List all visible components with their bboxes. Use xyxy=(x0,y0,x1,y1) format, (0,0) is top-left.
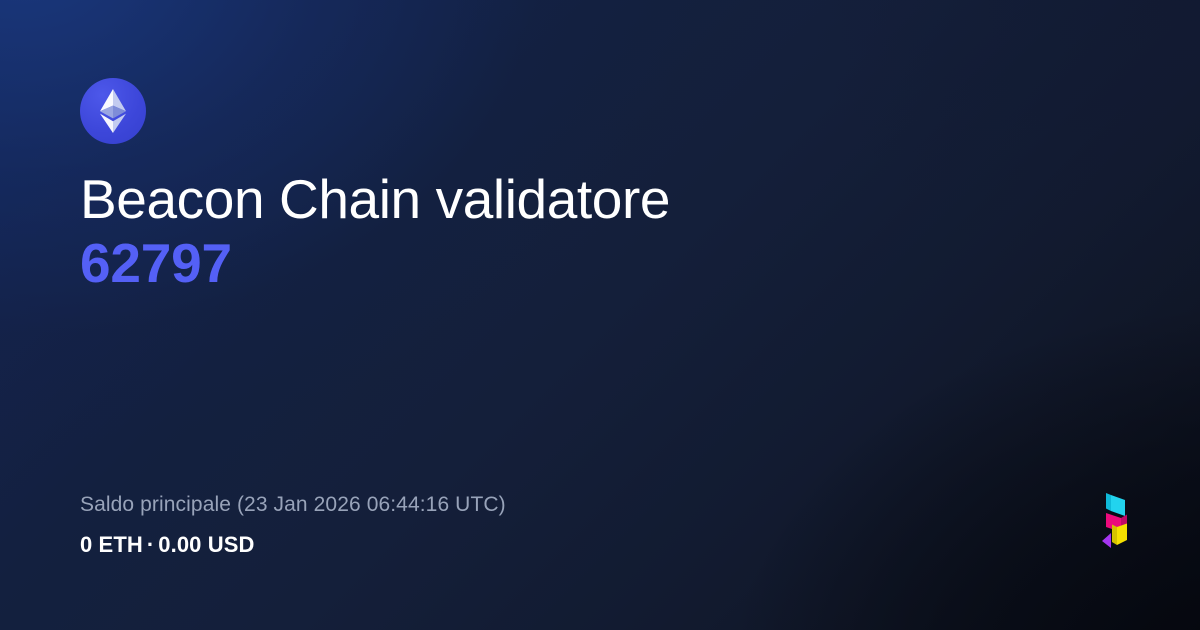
balance-label: Saldo principale (23 Jan 2026 06:44:16 U… xyxy=(80,493,506,517)
og-preview-card: Beacon Chain validatore 62797 Saldo prin… xyxy=(0,0,1200,630)
balance-separator: · xyxy=(143,532,158,557)
card-content: Beacon Chain validatore 62797 Saldo prin… xyxy=(0,0,1200,630)
ethereum-logo-icon xyxy=(80,78,146,144)
balance-usd: 0.00 USD xyxy=(158,532,254,557)
balance-value: 0 ETH·0.00 USD xyxy=(80,532,506,558)
beaconchain-logo-icon xyxy=(1094,492,1138,556)
page-title: Beacon Chain validatore xyxy=(80,171,1120,228)
validator-index: 62797 xyxy=(80,235,1120,292)
balance-section: Saldo principale (23 Jan 2026 06:44:16 U… xyxy=(80,493,506,558)
balance-eth: 0 ETH xyxy=(80,532,143,557)
